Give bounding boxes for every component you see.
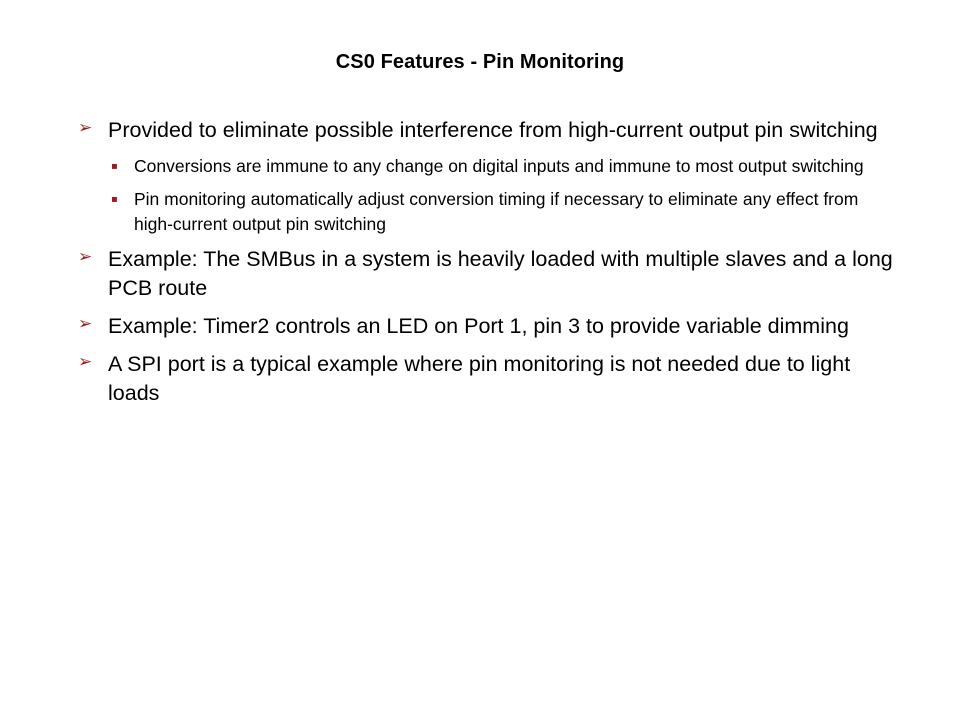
arrowhead-bullet-icon: ➢	[78, 350, 108, 371]
sub-bullet-group: ▪ Conversions are immune to any change o…	[78, 154, 898, 237]
bullet-item: ➢ A SPI port is a typical example where …	[78, 350, 898, 408]
bullet-item: ➢ Provided to eliminate possible interfe…	[78, 116, 898, 145]
arrowhead-bullet-icon: ➢	[78, 312, 108, 333]
bullet-text: Provided to eliminate possible interfere…	[108, 116, 898, 145]
sub-bullet-text: Conversions are immune to any change on …	[134, 154, 898, 179]
bullet-item: ➢ Example: The SMBus in a system is heav…	[78, 245, 898, 303]
sub-bullet-item: ▪ Pin monitoring automatically adjust co…	[111, 187, 898, 237]
bullet-text: Example: The SMBus in a system is heavil…	[108, 245, 898, 303]
sub-bullet-item: ▪ Conversions are immune to any change o…	[111, 154, 898, 179]
square-bullet-icon: ▪	[111, 154, 134, 172]
bullet-text: Example: Timer2 controls an LED on Port …	[108, 312, 898, 341]
bullet-item: ➢ Example: Timer2 controls an LED on Por…	[78, 312, 898, 341]
slide-title: CS0 Features - Pin Monitoring	[0, 49, 960, 75]
sub-bullet-text: Pin monitoring automatically adjust conv…	[134, 187, 898, 237]
bullet-text: A SPI port is a typical example where pi…	[108, 350, 898, 408]
slide-body: ➢ Provided to eliminate possible interfe…	[78, 116, 898, 417]
arrowhead-bullet-icon: ➢	[78, 116, 108, 137]
arrowhead-bullet-icon: ➢	[78, 245, 108, 266]
presentation-slide: CS0 Features - Pin Monitoring ➢ Provided…	[0, 0, 960, 720]
square-bullet-icon: ▪	[111, 187, 134, 205]
